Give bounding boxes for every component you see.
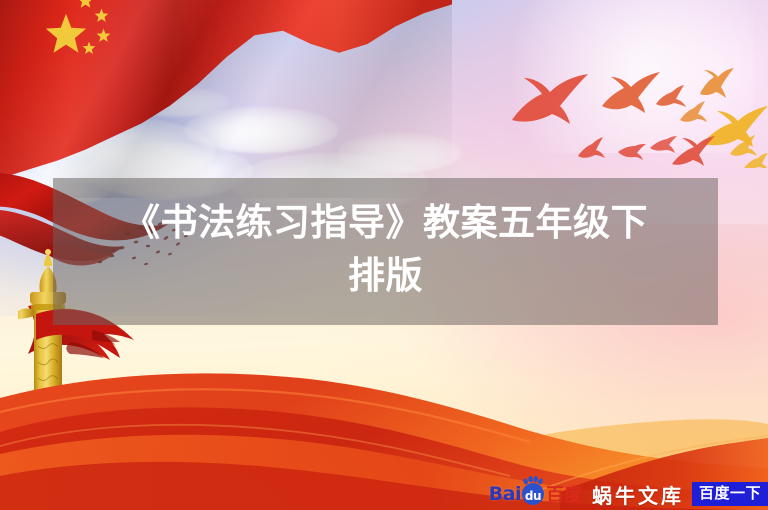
flag-small-star	[82, 41, 96, 55]
site-name-watermark: 蜗牛文库	[592, 480, 684, 509]
poster-image: 《书法练习指导》教案五年级下 排版 Bai du 百度 蜗牛文库 百度一下	[0, 0, 768, 510]
flag-small-star	[77, 0, 94, 9]
flag-small-star	[96, 28, 111, 43]
watermark-bar: Bai du 百度 蜗牛文库 百度一下	[489, 481, 768, 507]
title-overlay-panel: 《书法练习指导》教案五年级下 排版	[53, 178, 718, 325]
title-line-1: 《书法练习指导》教案五年级下	[123, 197, 648, 250]
baidu-chinese-text: 百度	[546, 481, 582, 507]
baidu-logo[interactable]: Bai du 百度	[489, 481, 582, 507]
title-line-2: 排版	[348, 250, 423, 303]
flying-dove-flock	[490, 48, 768, 168]
baidu-search-button[interactable]: 百度一下	[692, 482, 768, 506]
baidu-latin-text: Bai	[489, 483, 521, 505]
baidu-paw-icon: du	[522, 483, 544, 505]
flag-small-star	[94, 8, 109, 23]
baidu-paw-label: du	[525, 490, 541, 505]
chinese-national-flag	[0, 0, 452, 198]
